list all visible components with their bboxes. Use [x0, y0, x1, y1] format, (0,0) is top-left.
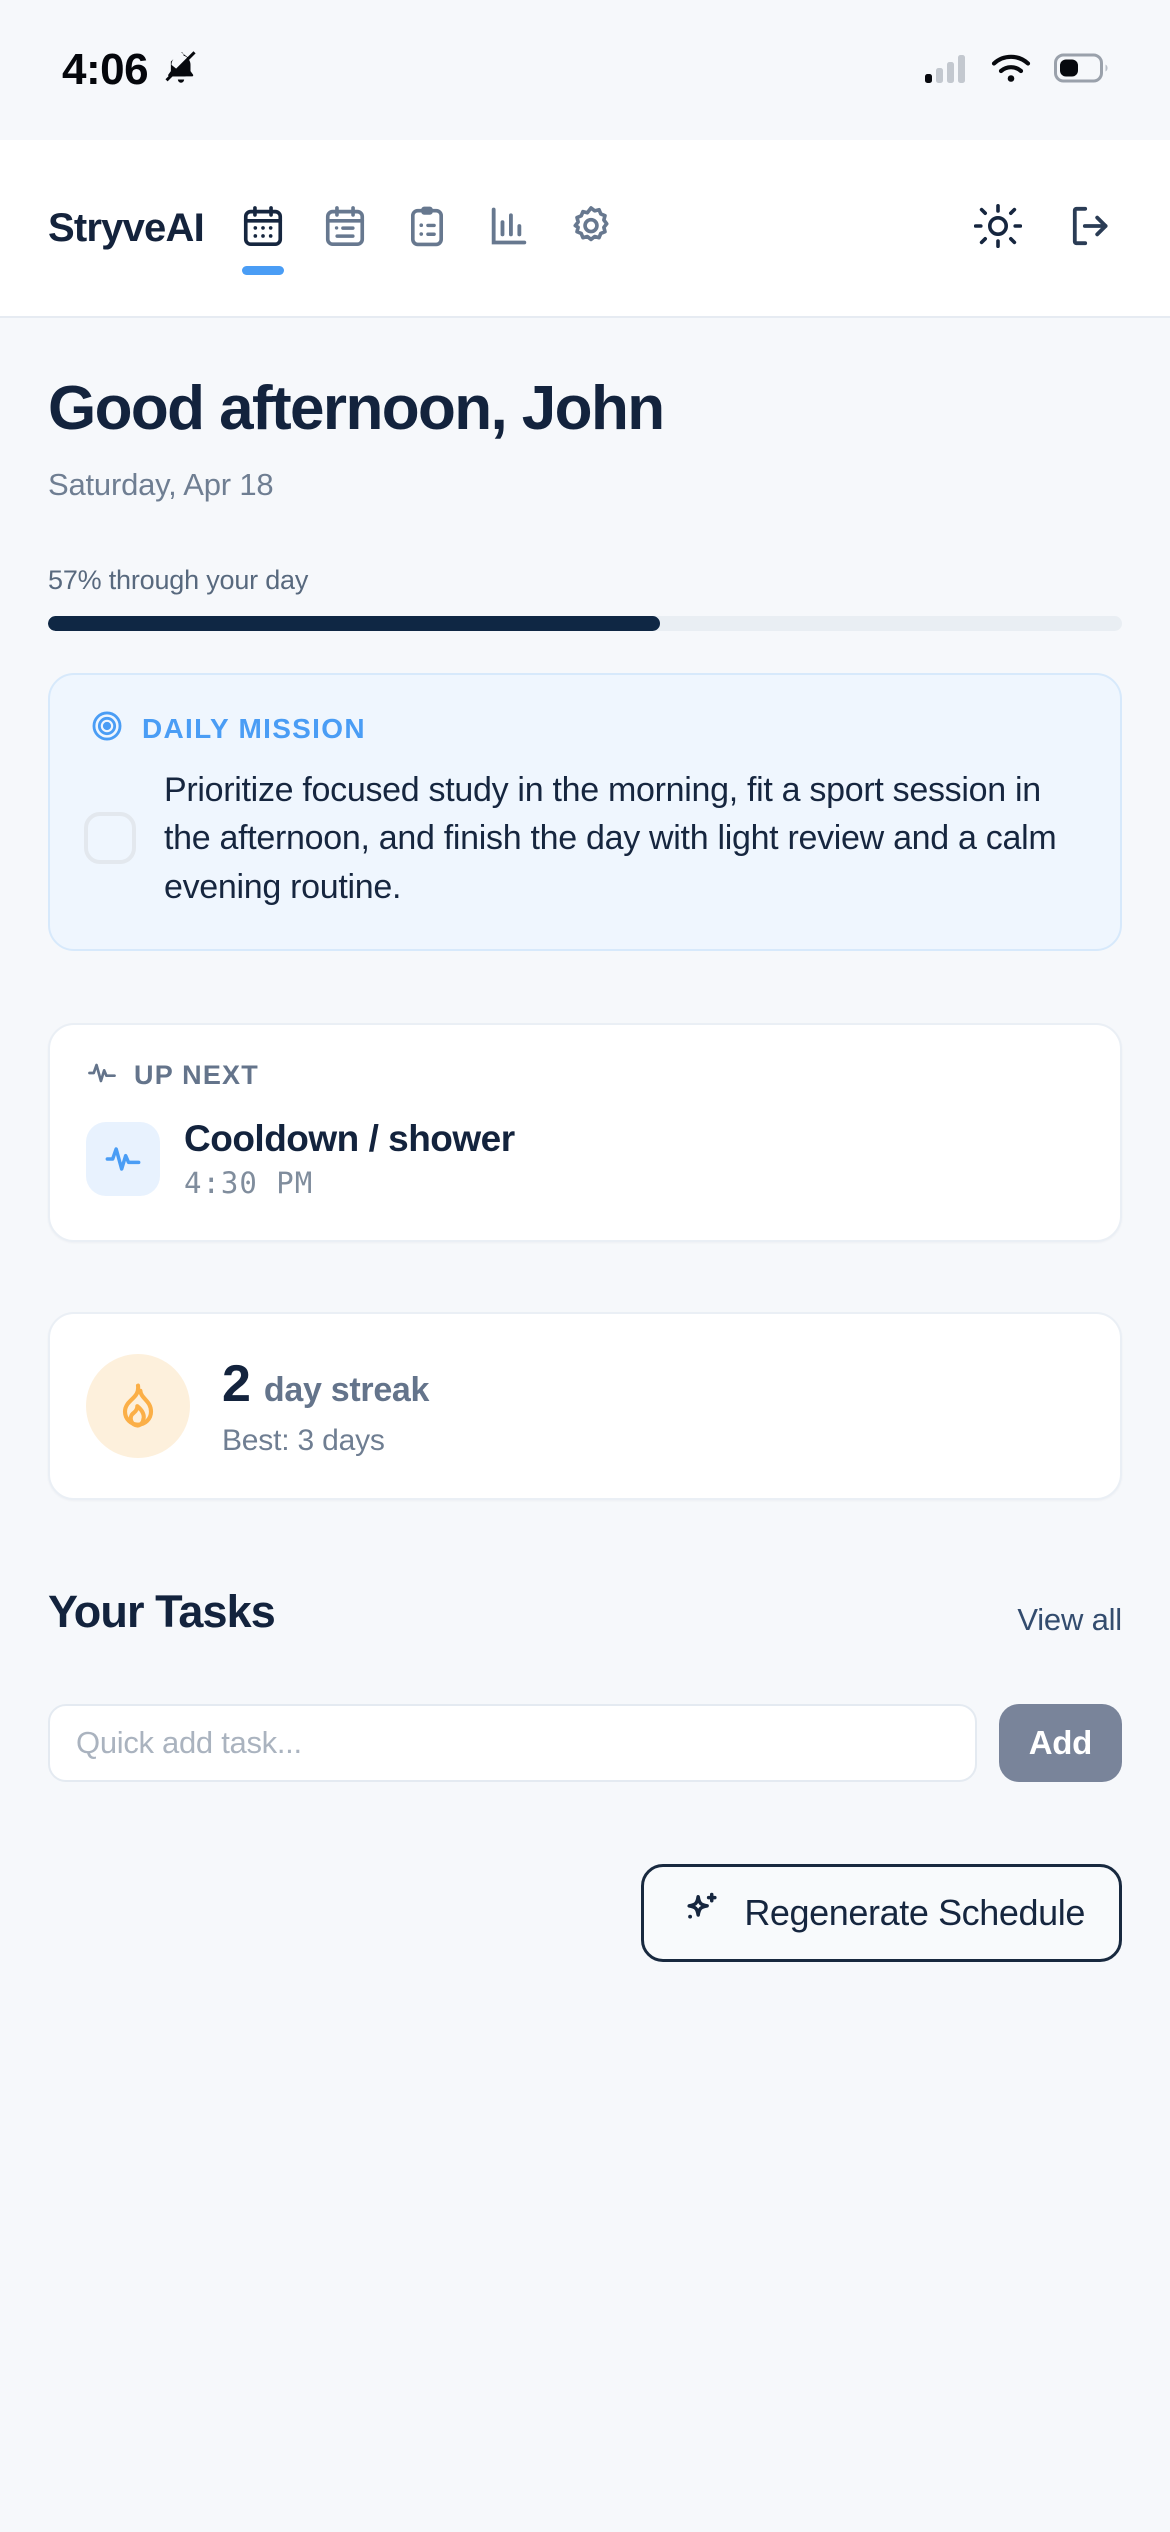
streak-unit: day streak — [264, 1371, 429, 1410]
tasks-title: Your Tasks — [48, 1586, 275, 1638]
status-bar: 4:06 — [0, 0, 1170, 140]
brand-logo[interactable]: StryveAI — [48, 206, 204, 251]
quick-add-task-input[interactable] — [48, 1704, 977, 1782]
day-progress-fill — [48, 616, 660, 631]
activity-pulse-icon — [86, 1122, 160, 1196]
day-progress-label: 57% through your day — [48, 565, 1122, 596]
sun-icon[interactable] — [974, 202, 1022, 255]
header-actions — [974, 202, 1124, 255]
app-screen: 4:06 — [0, 0, 1170, 2532]
daily-mission-body: Prioritize focused study in the morning,… — [84, 766, 1086, 911]
regenerate-schedule-label: Regenerate Schedule — [744, 1892, 1085, 1934]
quick-add-row: Add — [48, 1704, 1122, 1782]
target-icon — [90, 709, 124, 748]
nav-item-schedule[interactable] — [314, 189, 376, 267]
app-header: StryveAI — [0, 140, 1170, 318]
up-next-label: UP NEXT — [134, 1060, 259, 1091]
view-all-link[interactable]: View all — [1017, 1602, 1122, 1638]
day-progress-bar — [48, 616, 1122, 631]
gear-icon — [568, 203, 614, 254]
wifi-icon — [990, 52, 1032, 89]
streak-details: 2 day streak Best: 3 days — [222, 1354, 429, 1458]
streak-best: Best: 3 days — [222, 1424, 429, 1458]
up-next-item: Cooldown / shower 4:30 PM — [86, 1118, 1084, 1200]
calendar-schedule-icon — [322, 203, 368, 254]
daily-mission-header: DAILY MISSION — [90, 709, 1086, 748]
regenerate-schedule-button[interactable]: Regenerate Schedule — [641, 1864, 1122, 1962]
page-title: Good afternoon, John — [48, 376, 1122, 441]
nav-item-stats[interactable] — [478, 189, 540, 267]
main-content: Good afternoon, John Saturday, Apr 18 57… — [0, 376, 1170, 1962]
sparkles-icon — [678, 1889, 722, 1936]
nav-item-day-view[interactable] — [232, 189, 294, 267]
up-next-details: Cooldown / shower 4:30 PM — [184, 1118, 515, 1200]
up-next-card[interactable]: UP NEXT Cooldown / shower 4:30 PM — [48, 1023, 1122, 1242]
flame-icon — [86, 1354, 190, 1458]
logout-icon[interactable] — [1066, 202, 1114, 255]
status-bar-left: 4:06 — [62, 45, 200, 95]
daily-mission-checkbox[interactable] — [84, 812, 136, 864]
streak-headline: 2 day streak — [222, 1354, 429, 1414]
cellular-signal-icon — [924, 52, 968, 89]
status-bar-clock: 4:06 — [62, 45, 148, 95]
header-nav — [232, 189, 622, 267]
current-date: Saturday, Apr 18 — [48, 467, 1122, 503]
nav-active-indicator — [242, 266, 284, 275]
tasks-section-header: Your Tasks View all — [48, 1586, 1122, 1638]
bar-chart-icon — [486, 203, 532, 254]
daily-mission-text: Prioritize focused study in the morning,… — [164, 766, 1086, 911]
bell-off-icon — [162, 49, 200, 92]
regenerate-row: Regenerate Schedule — [48, 1864, 1122, 1962]
clipboard-list-icon — [404, 203, 450, 254]
streak-count: 2 — [222, 1354, 250, 1414]
up-next-title: Cooldown / shower — [184, 1118, 515, 1160]
calendar-days-icon — [240, 203, 286, 254]
daily-mission-label: DAILY MISSION — [142, 713, 366, 745]
battery-icon — [1054, 53, 1110, 88]
streak-card[interactable]: 2 day streak Best: 3 days — [48, 1312, 1122, 1500]
up-next-time: 4:30 PM — [184, 1166, 515, 1200]
add-task-button[interactable]: Add — [999, 1704, 1122, 1782]
up-next-header: UP NEXT — [86, 1057, 1084, 1094]
activity-pulse-icon — [86, 1057, 118, 1094]
nav-item-tasks[interactable] — [396, 189, 458, 267]
nav-item-settings[interactable] — [560, 189, 622, 267]
daily-mission-card[interactable]: DAILY MISSION Prioritize focused study i… — [48, 673, 1122, 951]
status-bar-right — [924, 52, 1110, 89]
